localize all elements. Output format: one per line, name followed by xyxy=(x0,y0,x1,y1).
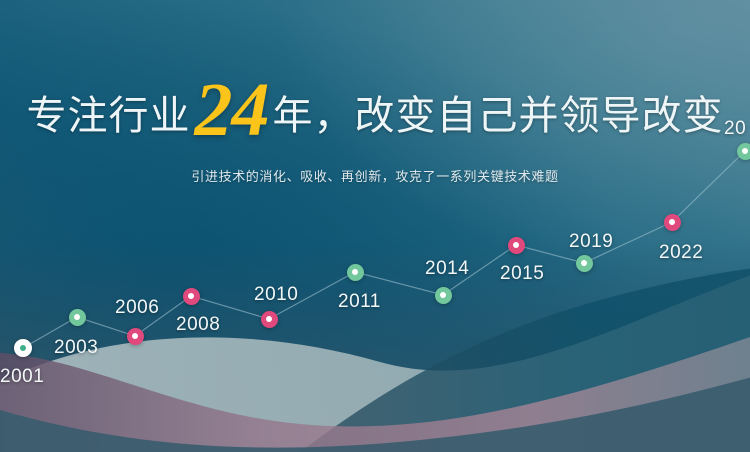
node-center-dot xyxy=(742,148,748,154)
timeline-year-label-2011: 2011 xyxy=(338,292,381,311)
node-center-dot xyxy=(581,260,587,266)
timeline-year-label-2015: 2015 xyxy=(500,264,544,283)
timeline-year-label-2001: 2001 xyxy=(0,367,44,386)
node-center-dot xyxy=(513,242,519,248)
timeline-year-label-2022: 2022 xyxy=(659,243,703,262)
timeline-node-2006[interactable] xyxy=(127,328,144,345)
timeline-year-label-2014: 2014 xyxy=(425,259,469,278)
node-center-dot xyxy=(188,293,194,299)
timeline-node-2010[interactable] xyxy=(261,311,278,328)
node-center-dot xyxy=(132,333,138,339)
timeline-node-2008[interactable] xyxy=(183,288,200,305)
timeline-node-20[interactable] xyxy=(737,143,750,160)
timeline-year-label-20: 20 xyxy=(724,119,746,138)
timeline-year-label-2006: 2006 xyxy=(115,298,159,317)
timeline-node-2003[interactable] xyxy=(69,309,86,326)
timeline-year-label-2019: 2019 xyxy=(569,232,613,251)
node-center-dot xyxy=(440,292,446,298)
node-center-dot xyxy=(352,269,358,275)
timeline-year-label-2003: 2003 xyxy=(54,338,98,357)
timeline-nodes: 2001200320062008201020112014201520192022… xyxy=(0,0,750,452)
timeline-node-2001[interactable] xyxy=(14,339,32,357)
node-center-dot xyxy=(74,314,80,320)
timeline-node-2015[interactable] xyxy=(508,237,525,254)
timeline-node-2022[interactable] xyxy=(664,214,681,231)
timeline-banner: 2001200320062008201020112014201520192022… xyxy=(0,0,750,452)
timeline-node-2011[interactable] xyxy=(347,264,364,281)
timeline-node-2019[interactable] xyxy=(576,255,593,272)
node-center-dot xyxy=(266,316,272,322)
timeline-year-label-2008: 2008 xyxy=(176,315,220,334)
timeline-year-label-2010: 2010 xyxy=(254,285,298,304)
node-center-dot xyxy=(20,345,26,351)
node-center-dot xyxy=(669,219,675,225)
timeline-node-2014[interactable] xyxy=(435,287,452,304)
